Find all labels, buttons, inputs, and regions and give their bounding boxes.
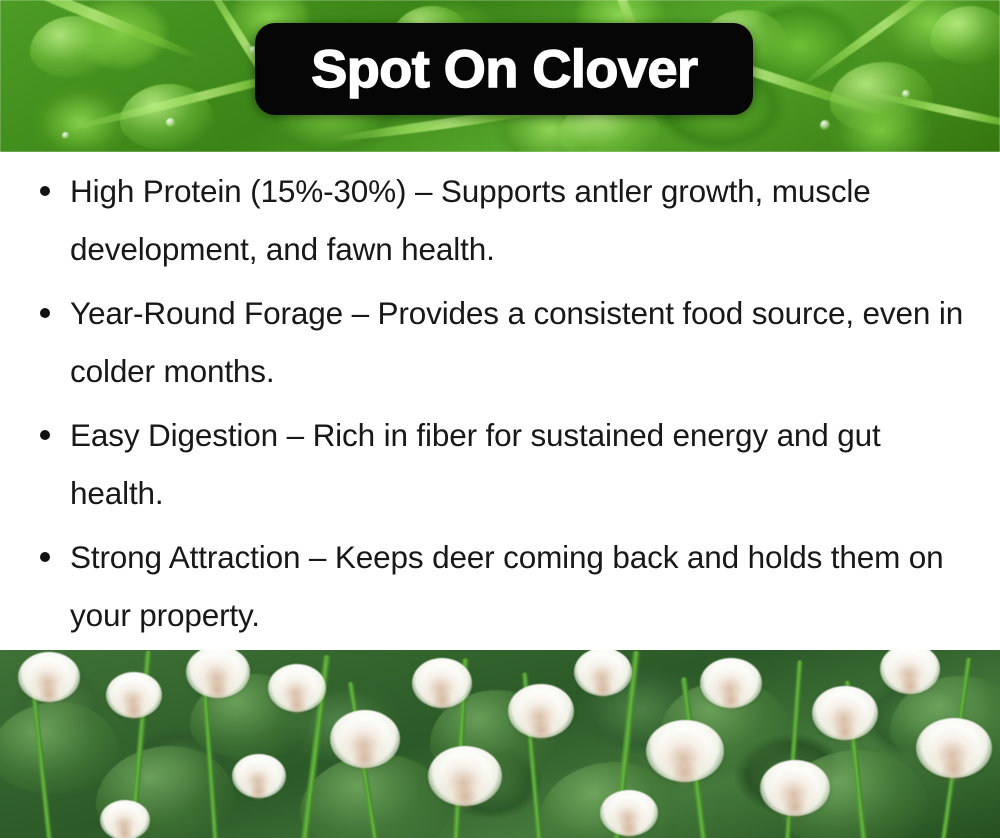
clover-flower bbox=[812, 686, 878, 740]
clover-flower bbox=[508, 684, 574, 738]
bullet-dot-icon bbox=[40, 186, 50, 196]
list-item: High Protein (15%-30%) – Supports antler… bbox=[34, 162, 976, 278]
list-item: Year-Round Forage – Provides a consisten… bbox=[34, 284, 976, 400]
list-item: Easy Digestion – Rich in fiber for susta… bbox=[34, 406, 976, 522]
bottom-clover-flower-photo bbox=[0, 650, 1000, 838]
clover-flower bbox=[916, 718, 992, 778]
title-badge: Spot On Clover bbox=[255, 23, 753, 115]
clover-flower bbox=[600, 790, 658, 836]
clover-flower bbox=[330, 710, 400, 768]
clover-info-poster: Spot On Clover High Protein (15%-30%) – … bbox=[0, 0, 1000, 838]
bullet-dot-icon bbox=[40, 430, 50, 440]
clover-flower bbox=[760, 760, 830, 816]
clover-flower bbox=[18, 652, 80, 702]
clover-flower bbox=[100, 800, 150, 838]
benefits-list: High Protein (15%-30%) – Supports antler… bbox=[34, 162, 976, 644]
benefit-text: Strong Attraction – Keeps deer coming ba… bbox=[70, 539, 944, 633]
benefits-section: High Protein (15%-30%) – Supports antler… bbox=[0, 152, 1000, 650]
benefit-text: Year-Round Forage – Provides a consisten… bbox=[70, 295, 963, 389]
bullet-dot-icon bbox=[40, 308, 50, 318]
clover-flower bbox=[268, 664, 326, 712]
list-item: Strong Attraction – Keeps deer coming ba… bbox=[34, 528, 976, 644]
benefit-text: Easy Digestion – Rich in fiber for susta… bbox=[70, 417, 881, 511]
clover-flower bbox=[106, 672, 162, 718]
clover-flower bbox=[700, 658, 762, 708]
clover-flower bbox=[646, 720, 724, 782]
clover-flower bbox=[574, 650, 632, 696]
clover-flower bbox=[232, 754, 286, 798]
clover-flower bbox=[412, 658, 472, 708]
benefit-text: High Protein (15%-30%) – Supports antler… bbox=[70, 173, 871, 267]
page-title: Spot On Clover bbox=[311, 43, 697, 96]
clover-flower bbox=[428, 746, 502, 806]
bullet-dot-icon bbox=[40, 552, 50, 562]
